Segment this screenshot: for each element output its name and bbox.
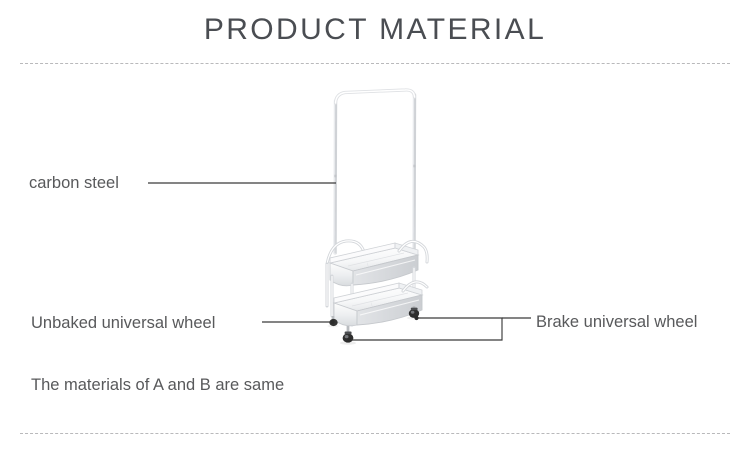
garment-rack-frame xyxy=(334,90,415,253)
product-material-page: PRODUCT MATERIAL xyxy=(0,0,750,456)
caster-front-left xyxy=(343,326,354,343)
callout-label-carbon-steel: carbon steel xyxy=(29,173,119,193)
materials-footnote: The materials of A and B are same xyxy=(31,375,284,395)
callout-label-unbaked-universal-wheel: Unbaked universal wheel xyxy=(31,313,215,333)
upper-tray xyxy=(330,243,418,286)
lower-tray xyxy=(334,283,422,326)
callout-label-brake-universal-wheel: Brake universal wheel xyxy=(536,312,697,332)
